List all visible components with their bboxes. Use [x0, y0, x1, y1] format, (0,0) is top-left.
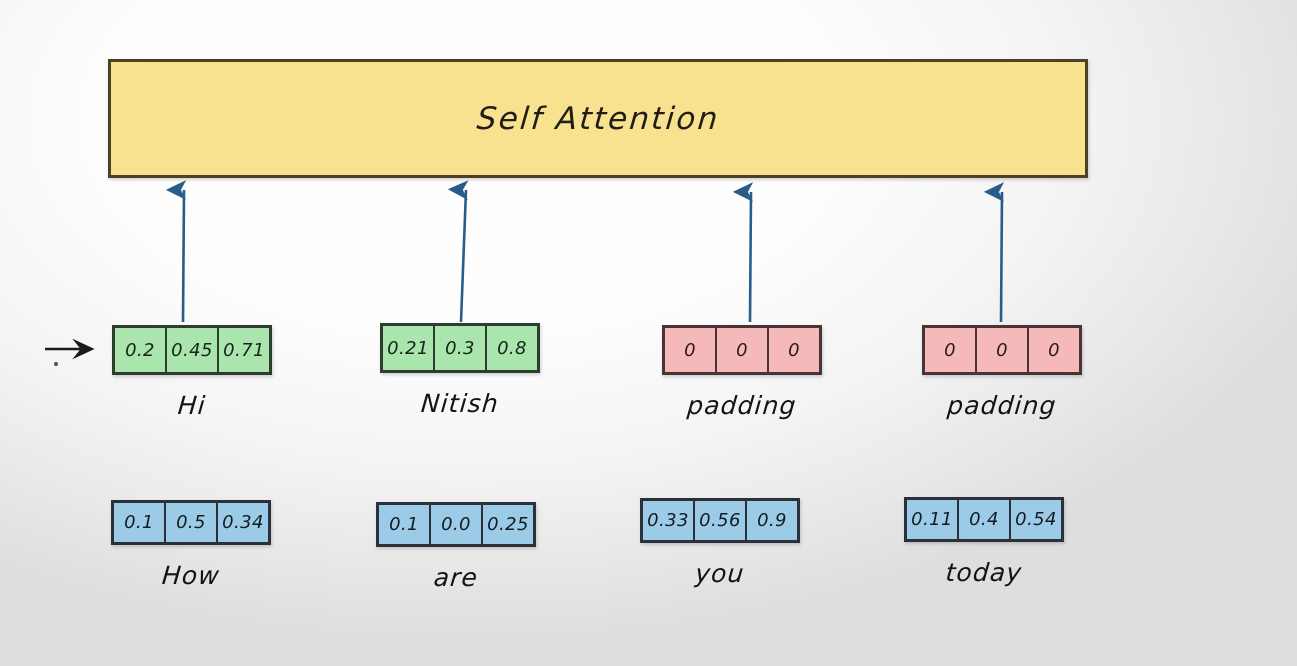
vector-cell: 0.3 [435, 326, 487, 370]
vector-group-how[interactable]: 0.1 0.5 0.34 How [111, 500, 271, 590]
token-label: Hi [111, 391, 274, 420]
vector-box[interactable]: 0 0 0 [922, 325, 1082, 375]
token-label: padding [921, 391, 1084, 420]
token-label: How [110, 561, 273, 590]
vector-cell: 0 [977, 328, 1029, 372]
vector-cell: 0.9 [747, 501, 797, 540]
vector-cell: 0.11 [907, 500, 959, 539]
self-attention-label: Self Attention [475, 101, 721, 137]
vector-cell: 0.25 [483, 505, 533, 544]
vector-box[interactable]: 0 0 0 [662, 325, 822, 375]
vector-box[interactable]: 0.1 0.5 0.34 [111, 500, 271, 545]
vector-cell: 0 [925, 328, 977, 372]
vector-cell: 0.8 [487, 326, 537, 370]
vector-cell: 0.0 [431, 505, 483, 544]
vector-group-nitish[interactable]: 0.21 0.3 0.8 Nitish [380, 323, 540, 418]
vector-group-padding-2[interactable]: 0 0 0 padding [922, 325, 1082, 420]
vector-box[interactable]: 0.2 0.45 0.71 [112, 325, 272, 375]
vector-group-are[interactable]: 0.1 0.0 0.25 are [376, 502, 536, 592]
vector-cell: 0.71 [219, 328, 269, 372]
self-attention-block[interactable]: Self Attention [108, 59, 1088, 178]
arrow-padding-2 [1001, 192, 1002, 322]
vector-cell: 0.45 [167, 328, 219, 372]
input-arrow-group [45, 349, 92, 366]
attention-arrows [183, 190, 1002, 322]
token-label: today [903, 558, 1066, 587]
arrow-hi [183, 190, 184, 322]
vector-group-hi[interactable]: 0.2 0.45 0.71 Hi [112, 325, 272, 420]
token-label: are [375, 563, 538, 592]
vector-cell: 0.4 [959, 500, 1011, 539]
vector-cell: 0.2 [115, 328, 167, 372]
token-label: you [639, 559, 802, 588]
vector-box[interactable]: 0.1 0.0 0.25 [376, 502, 536, 547]
token-label: padding [661, 391, 824, 420]
vector-cell: 0 [665, 328, 717, 372]
arrow-nitish [461, 190, 466, 322]
vector-box[interactable]: 0.11 0.4 0.54 [904, 497, 1064, 542]
vector-cell: 0.1 [379, 505, 431, 544]
vector-group-today[interactable]: 0.11 0.4 0.54 today [904, 497, 1064, 587]
vector-cell: 0.5 [166, 503, 218, 542]
vector-group-padding-1[interactable]: 0 0 0 padding [662, 325, 822, 420]
input-dot-icon [54, 362, 58, 366]
vector-box[interactable]: 0.21 0.3 0.8 [380, 323, 540, 373]
vector-cell: 0 [1029, 328, 1079, 372]
vector-cell: 0.34 [218, 503, 268, 542]
diagram-canvas: Self Attention 0.2 0.45 0.71 [0, 0, 1297, 666]
vector-cell: 0.21 [383, 326, 435, 370]
vector-cell: 0.54 [1011, 500, 1061, 539]
vector-cell: 0 [769, 328, 819, 372]
vector-cell: 0.1 [114, 503, 166, 542]
vector-cell: 0.33 [643, 501, 695, 540]
token-label: Nitish [379, 389, 542, 418]
arrow-padding-1 [750, 192, 751, 322]
vector-cell: 0 [717, 328, 769, 372]
vector-cell: 0.56 [695, 501, 747, 540]
vector-group-you[interactable]: 0.33 0.56 0.9 you [640, 498, 800, 588]
vector-box[interactable]: 0.33 0.56 0.9 [640, 498, 800, 543]
